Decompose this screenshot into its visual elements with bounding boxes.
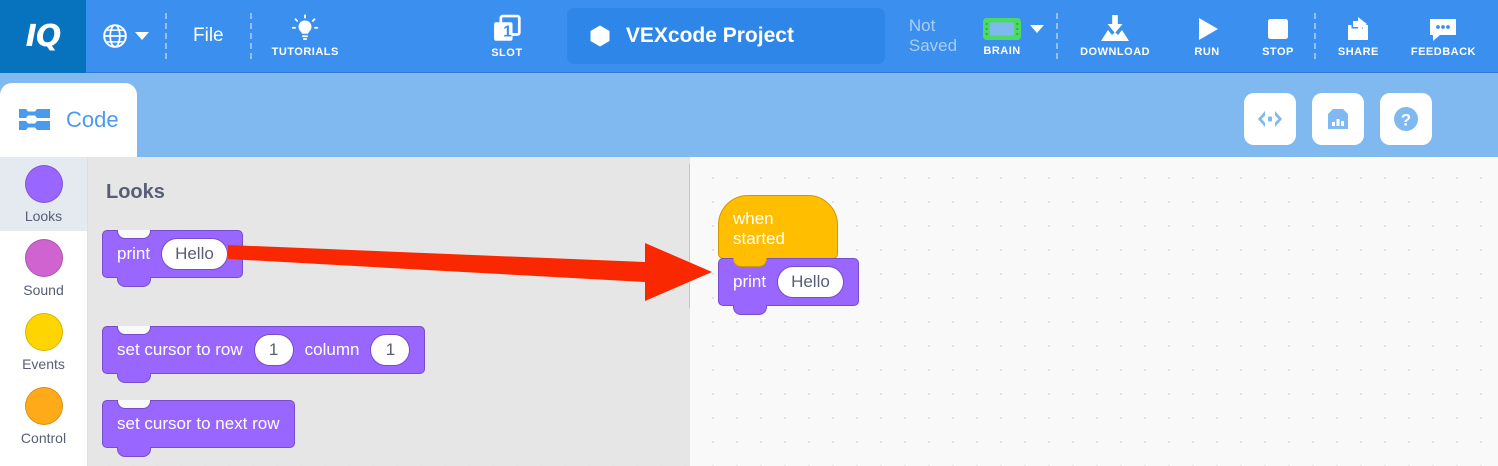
block-label: set cursor to row [117,340,243,360]
run-label: RUN [1194,46,1219,58]
block-notch [733,258,767,267]
palette-print-block[interactable]: print Hello [102,230,243,278]
workspace-print-block[interactable]: print Hello [718,258,859,306]
block-tab [117,277,151,287]
help-button[interactable]: ? [1380,93,1432,145]
tutorials-label: TUTORIALS [272,46,339,58]
row-number-field[interactable]: 1 [254,334,294,366]
language-selector[interactable] [86,23,165,49]
palette-category-title: Looks [106,181,165,204]
script-stack[interactable]: when started print Hello [718,195,859,306]
control-color-dot [25,387,63,425]
svg-text:?: ? [1401,111,1411,130]
sidebar-item-label: Looks [25,208,62,224]
tab-code[interactable]: Code [0,83,137,157]
block-label-2: column [305,340,360,360]
sidebar-item-label: Control [21,430,66,446]
looks-color-dot [25,165,63,203]
secondary-toolbar: Code [0,73,1498,157]
category-sidebar: Looks Sound Events Control [0,157,88,466]
lightbulb-icon [290,14,320,44]
code-workspace[interactable]: when started print Hello [690,157,1498,466]
slot-selector[interactable]: 1 SLOT [477,13,537,59]
brain-device-icon [982,15,1022,43]
sidebar-item-looks[interactable]: Looks [0,157,87,231]
events-color-dot [25,313,63,351]
monitor-button[interactable] [1312,93,1364,145]
download-button[interactable]: DOWNLOAD [1058,14,1172,58]
run-button[interactable]: RUN [1172,14,1242,58]
hexagon-icon [589,24,611,48]
monitor-chart-icon [1324,105,1352,133]
download-icon [1098,14,1132,44]
iq-logo[interactable]: IQ [0,0,86,73]
angle-brackets-icon [1255,107,1285,131]
column-number-field[interactable]: 1 [370,334,410,366]
when-started-block[interactable]: when started [718,195,859,259]
subbar-actions: ? [1244,93,1432,145]
comment-icon [1427,14,1459,44]
share-label: SHARE [1338,46,1379,58]
share-icon [1343,14,1373,44]
block-tab [733,305,767,315]
sidebar-item-label: Events [22,356,65,372]
stop-button[interactable]: STOP [1242,14,1314,58]
brain-label: BRAIN [983,45,1020,57]
block-notch [117,326,151,335]
chevron-down-icon [135,32,149,40]
share-button[interactable]: SHARE [1316,14,1401,58]
sidebar-item-sensing[interactable] [0,453,87,466]
block-text-field[interactable]: Hello [777,266,844,298]
globe-icon [102,23,128,49]
block-label: print [117,244,150,264]
sound-color-dot [25,239,63,277]
stop-icon [1263,14,1293,44]
palette-set-cursor-next-row-block[interactable]: set cursor to next row [102,400,295,448]
feedback-label: FEEDBACK [1411,46,1476,58]
block-text-field[interactable]: Hello [161,238,228,270]
block-tab [117,373,151,383]
stop-label: STOP [1262,46,1294,58]
iq-logo-text: IQ [26,19,61,54]
main-toolbar: IQ File [0,0,1498,73]
file-menu-button[interactable]: File [167,25,250,47]
block-notch [117,230,151,239]
play-icon [1192,14,1222,44]
toolbar-actions: BRAIN DOWNLOAD RUN [958,0,1498,73]
palette-set-cursor-row-column-block[interactable]: set cursor to row 1 column 1 [102,326,425,374]
blocks-icon [16,100,56,140]
block-label: print [733,272,766,292]
sidebar-item-control[interactable]: Control [0,379,87,453]
project-name-text: VEXcode Project [626,24,794,48]
block-palette[interactable]: Looks print Hello set cursor to row 1 co… [88,157,690,466]
chevron-down-icon [1030,25,1044,33]
svg-text:1: 1 [503,23,512,40]
tab-code-label: Code [66,107,119,133]
slot-icon: 1 [491,13,523,45]
sidebar-item-label: Sound [23,282,63,298]
sidebar-item-events[interactable]: Events [0,305,87,379]
block-notch [117,400,151,409]
block-label: set cursor to next row [117,414,280,434]
brain-selector[interactable]: BRAIN [958,15,1056,57]
project-name-button[interactable]: VEXcode Project [567,8,885,64]
tutorials-button[interactable]: TUTORIALS [252,14,359,58]
vexcode-iq-app: IQ File [0,0,1498,466]
download-label: DOWNLOAD [1080,46,1150,58]
slot-label: SLOT [491,47,522,59]
block-label: when started [733,209,823,249]
question-mark-icon: ? [1391,104,1421,134]
code-view-button[interactable] [1244,93,1296,145]
sidebar-item-sound[interactable]: Sound [0,231,87,305]
save-status: Not Saved [909,16,958,56]
block-tab [117,447,151,457]
feedback-button[interactable]: FEEDBACK [1401,14,1498,58]
